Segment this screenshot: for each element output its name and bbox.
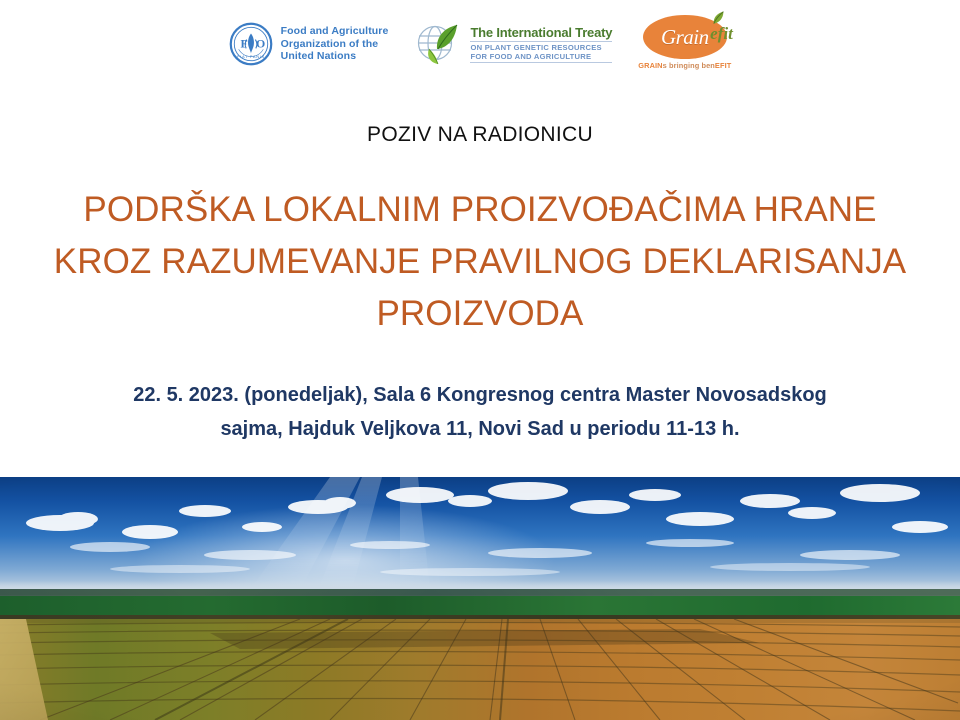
- grain-wordmark-secondary: efit: [710, 24, 733, 44]
- treaty-logo-subtitle-line-2: FOR FOOD AND AGRICULTURE: [470, 52, 612, 61]
- fao-emblem-icon: F O FIAT PANIS: [229, 22, 273, 66]
- clouds-decoration: [0, 477, 960, 590]
- plot-cross-rows: [0, 619, 960, 720]
- treaty-logo-subtitle-line-1: ON PLANT GENETIC RESOURCES: [470, 43, 612, 52]
- treaty-globe-leaf-icon: [414, 20, 464, 68]
- svg-text:F: F: [240, 37, 247, 51]
- slide-canvas: F O FIAT PANIS Food and Agriculture Orga…: [0, 0, 960, 720]
- event-details: 22. 5. 2023. (ponedeljak), Sala 6 Kongre…: [60, 378, 900, 446]
- logo-fao: F O FIAT PANIS Food and Agriculture Orga…: [229, 15, 389, 73]
- fao-logo-line-3: United Nations: [281, 50, 389, 62]
- fao-logo-text: Food and Agriculture Organization of the…: [281, 25, 389, 62]
- kicker-text: POZIV NA RADIONICU: [0, 123, 960, 147]
- fao-logo-line-1: Food and Agriculture: [281, 25, 389, 37]
- treaty-logo-subtitle: ON PLANT GENETIC RESOURCES FOR FOOD AND …: [470, 41, 612, 63]
- grain-tagline: GRAINs bringing benEFIT: [638, 61, 731, 70]
- field-photograph: [0, 477, 960, 720]
- logo-grainefit: Grain efit GRAINs bringing benEFIT: [638, 15, 731, 73]
- grain-tagline-prefix: GRAIN: [638, 61, 662, 70]
- page-title: PODRŠKA LOKALNIM PROIZVOĐAČIMA HRANE KRO…: [40, 184, 920, 340]
- headline-line-3: PROIZVODA: [40, 288, 920, 340]
- event-details-line-1: 22. 5. 2023. (ponedeljak), Sala 6 Kongre…: [60, 378, 900, 412]
- headline-line-2: KROZ RAZUMEVANJE PRAVILNOG DEKLARISANJA: [40, 236, 920, 288]
- wheat-sprout-icon: [709, 10, 725, 26]
- grain-tagline-middle: s bringing ben: [663, 61, 715, 70]
- logo-international-treaty: The International Treaty ON PLANT GENETI…: [414, 15, 612, 73]
- treaty-logo-text: The International Treaty ON PLANT GENETI…: [470, 25, 612, 63]
- treaty-logo-title: The International Treaty: [470, 25, 612, 40]
- fao-logo-line-2: Organization of the: [281, 38, 389, 50]
- logo-bar: F O FIAT PANIS Food and Agriculture Orga…: [0, 12, 960, 76]
- grain-tagline-suffix: EFIT: [715, 61, 731, 70]
- grain-ellipse-logo-icon: Grain efit: [643, 15, 727, 59]
- grain-wordmark-primary: Grain: [661, 25, 709, 50]
- event-details-line-2: sajma, Hajduk Veljkova 11, Novi Sad u pe…: [60, 412, 900, 446]
- headline-line-1: PODRŠKA LOKALNIM PROIZVOĐAČIMA HRANE: [40, 184, 920, 236]
- svg-text:FIAT PANIS: FIAT PANIS: [237, 54, 265, 59]
